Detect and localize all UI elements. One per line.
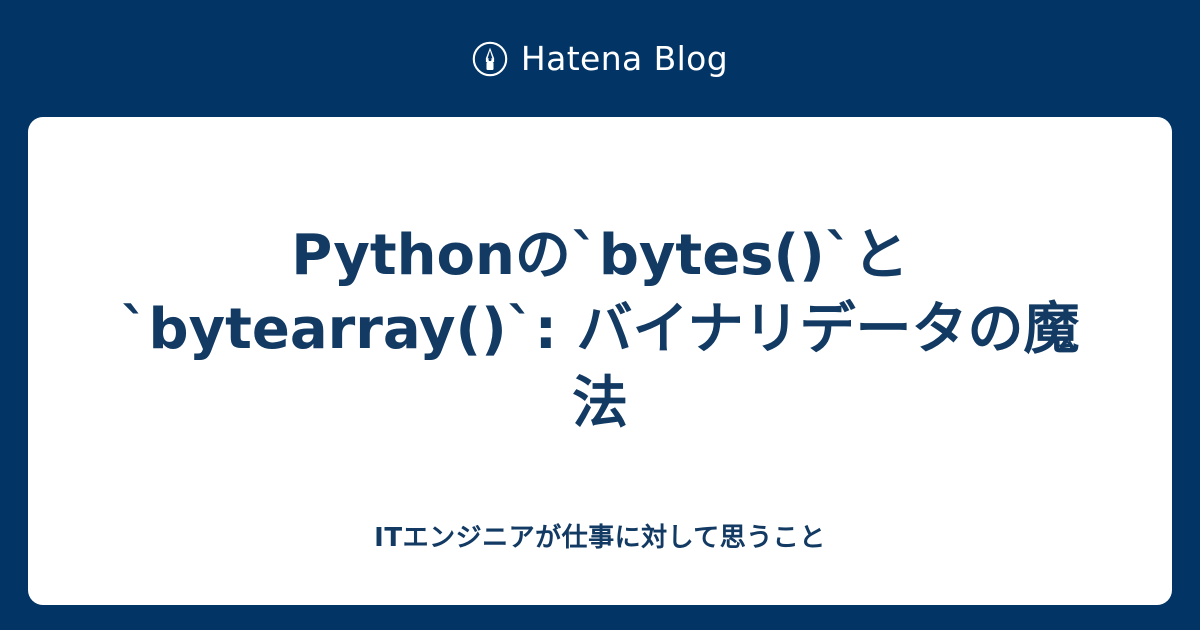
hatena-blog-brand-bar: Hatena Blog: [0, 0, 1200, 117]
hatena-blog-brand-name: Hatena Blog: [521, 42, 728, 75]
page-title: Pythonの`bytes()`と`bytearray()`: バイナリデータの…: [100, 219, 1100, 441]
hatena-pen-nib-icon: [472, 41, 508, 77]
entry-card: Pythonの`bytes()`と`bytearray()`: バイナリデータの…: [28, 117, 1172, 605]
blog-subtitle: ITエンジニアが仕事に対して思うこと: [374, 523, 826, 554]
